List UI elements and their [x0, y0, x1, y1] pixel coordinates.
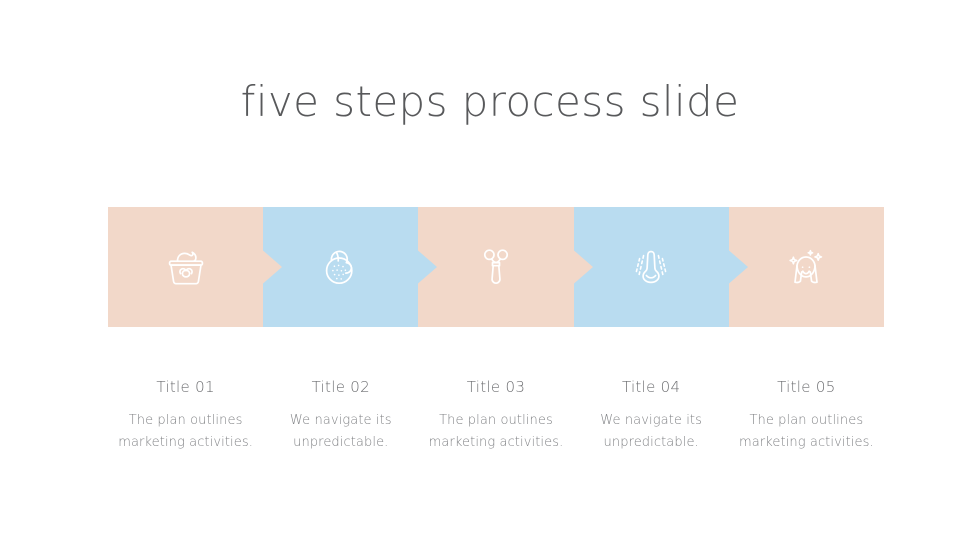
caption-row: Title 01 The plan outlines marketing act… [108, 378, 884, 455]
step-segment-05[interactable] [729, 207, 884, 327]
caption-title-04: Title 04 [578, 378, 725, 398]
caption-title-02: Title 02 [267, 378, 414, 398]
caption-body-05: The plan outlines marketing activities. [733, 410, 880, 456]
page-title: five steps process slide [0, 76, 980, 129]
caption-body-03: The plan outlines marketing activities. [422, 410, 569, 456]
caption-body-01-line1: The plan outlines [112, 410, 259, 433]
caption-body-05-line1: The plan outlines [733, 410, 880, 433]
face-roller-icon [470, 241, 522, 293]
caption-body-05-line2: marketing activities. [733, 432, 880, 455]
caption-body-02: We navigate its unpredictable. [267, 410, 414, 456]
caption-body-04: We navigate its unpredictable. [578, 410, 725, 456]
caption-body-03-line2: marketing activities. [422, 432, 569, 455]
caption-body-01-line2: marketing activities. [112, 432, 259, 455]
step-segment-03[interactable] [418, 207, 573, 327]
caption-body-04-line1: We navigate its [578, 410, 725, 433]
caption-title-03: Title 03 [422, 378, 569, 398]
caption-body-04-line2: unpredictable. [578, 432, 725, 455]
caption-02: Title 02 We navigate its unpredictable. [263, 378, 418, 455]
process-bar [108, 207, 884, 327]
glowing-face-icon [780, 241, 832, 293]
caption-body-02-line2: unpredictable. [267, 432, 414, 455]
caption-05: Title 05 The plan outlines marketing act… [729, 378, 884, 455]
caption-title-01: Title 01 [112, 378, 259, 398]
step-segment-04[interactable] [574, 207, 729, 327]
nose-care-icon [625, 241, 677, 293]
step-segment-01[interactable] [108, 207, 263, 327]
caption-body-02-line1: We navigate its [267, 410, 414, 433]
cream-jar-icon [160, 241, 212, 293]
caption-01: Title 01 The plan outlines marketing act… [108, 378, 263, 455]
process-slide: five steps process slide [0, 0, 980, 551]
face-mask-icon [315, 241, 367, 293]
caption-03: Title 03 The plan outlines marketing act… [418, 378, 573, 455]
caption-body-01: The plan outlines marketing activities. [112, 410, 259, 456]
caption-04: Title 04 We navigate its unpredictable. [574, 378, 729, 455]
caption-title-05: Title 05 [733, 378, 880, 398]
caption-body-03-line1: The plan outlines [422, 410, 569, 433]
step-segment-02[interactable] [263, 207, 418, 327]
